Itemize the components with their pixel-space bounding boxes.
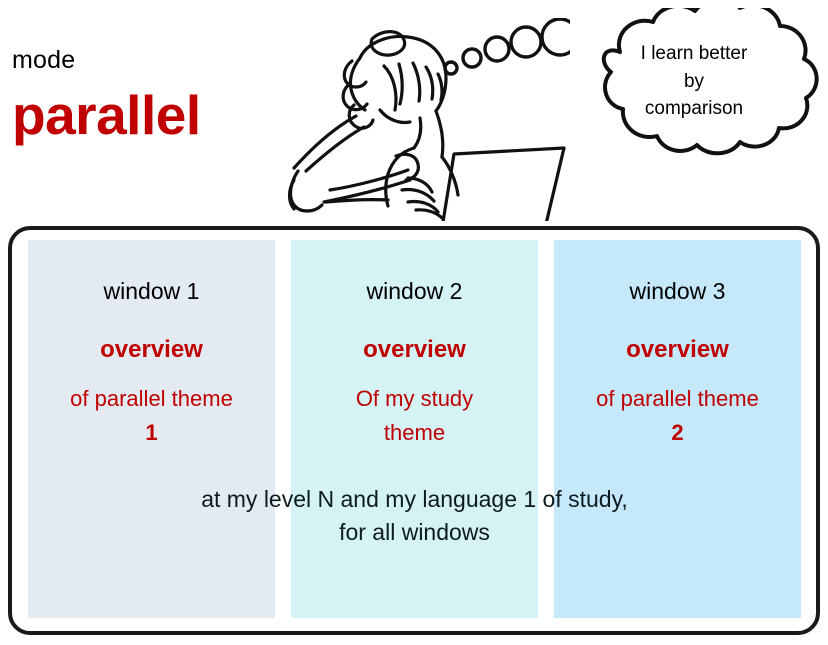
thought-bubble-line-1: I learn better — [596, 40, 792, 68]
thought-bubble-line-3: comparison — [596, 95, 792, 123]
window-1-overview: overview — [28, 336, 275, 364]
window-1-subtitle: of parallel theme 1 — [20, 382, 283, 450]
window-1-subtitle-emph: 1 — [145, 420, 157, 445]
window-3-subtitle: of parallel theme 2 — [546, 382, 809, 450]
window-2-title: window 2 — [291, 278, 538, 305]
window-2-overview: overview — [291, 336, 538, 364]
window-2-subtitle: Of my study theme — [283, 382, 546, 450]
thought-bubble-dots-icon — [440, 18, 570, 88]
mode-value: parallel — [12, 88, 201, 143]
window-2-subtitle-text: Of my study — [356, 386, 473, 411]
window-3-subtitle-text: of parallel theme — [596, 386, 759, 411]
window-1-subtitle-text: of parallel theme — [70, 386, 233, 411]
mode-label: mode — [12, 48, 75, 73]
thought-bubble-line-2: by — [596, 68, 792, 96]
window-panel-3[interactable]: window 3 overview of parallel theme 2 — [554, 240, 801, 618]
windows-caption-line-2: for all windows — [28, 516, 801, 549]
windows-caption: at my level N and my language 1 of study… — [28, 483, 801, 550]
windows-caption-line-1: at my level N and my language 1 of study… — [28, 483, 801, 516]
window-panel-2[interactable]: window 2 overview Of my study theme — [291, 240, 538, 618]
window-1-title: window 1 — [28, 278, 275, 305]
window-panel-1[interactable]: window 1 overview of parallel theme 1 — [28, 240, 275, 618]
window-2-subtitle-emph: theme — [384, 420, 445, 445]
window-3-title: window 3 — [554, 278, 801, 305]
window-3-subtitle-emph: 2 — [671, 420, 683, 445]
window-3-overview: overview — [554, 336, 801, 364]
thought-bubble-text: I learn better by comparison — [596, 40, 792, 123]
